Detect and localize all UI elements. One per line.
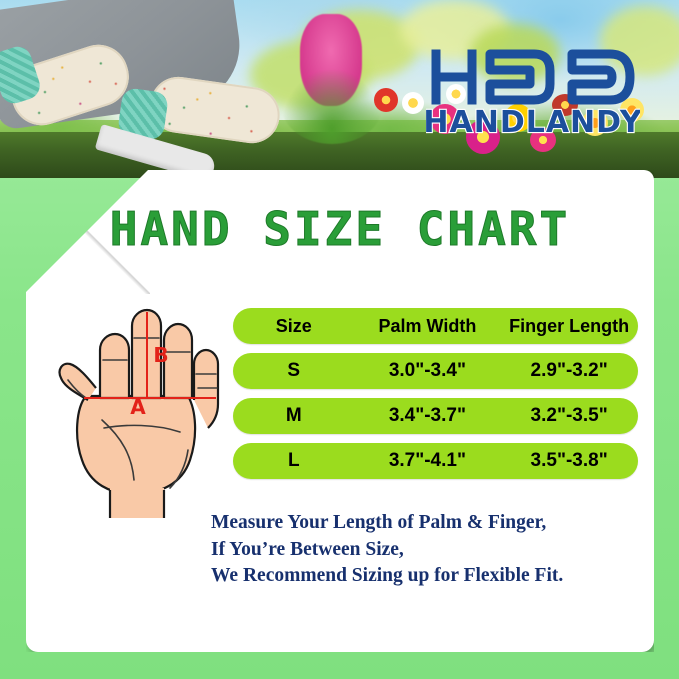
label-b: B bbox=[153, 343, 168, 367]
cell-finger-length: 2.9"-3.2" bbox=[500, 360, 638, 382]
hyacinth-leaves bbox=[282, 70, 382, 144]
cell-finger-length: 3.5"-3.8" bbox=[500, 450, 638, 472]
cell-size: L bbox=[233, 450, 355, 472]
header-size: Size bbox=[233, 316, 355, 337]
note-line-1: Measure Your Length of Palm & Finger, bbox=[211, 510, 641, 537]
table-header-row: Size Palm Width Finger Length bbox=[233, 308, 638, 344]
note-line-2: If You’re Between Size, bbox=[211, 537, 641, 564]
chart-card: HAND SIZE CHART bbox=[26, 170, 654, 652]
cell-palm-width: 3.4"-3.7" bbox=[355, 405, 501, 427]
table-row: L 3.7"-4.1" 3.5"-3.8" bbox=[233, 443, 638, 479]
cell-size: S bbox=[233, 360, 355, 382]
header-palm-width: Palm Width bbox=[355, 316, 501, 337]
hand-measurement-diagram: A B bbox=[48, 288, 228, 518]
table-row: S 3.0"-3.4" 2.9"-3.2" bbox=[233, 353, 638, 389]
label-a: A bbox=[130, 395, 146, 419]
size-table: Size Palm Width Finger Length S 3.0"-3.4… bbox=[233, 308, 638, 479]
cell-finger-length: 3.2"-3.5" bbox=[500, 405, 638, 427]
handlandy-logo: HANDLANDY bbox=[426, 44, 640, 136]
sizing-note: Measure Your Length of Palm & Finger, If… bbox=[211, 510, 641, 590]
cell-palm-width: 3.0"-3.4" bbox=[355, 360, 501, 382]
cell-size: M bbox=[233, 405, 355, 427]
daisy-flower bbox=[402, 92, 424, 114]
header-photo-gardening: HANDLANDY bbox=[0, 0, 679, 178]
logo-wordmark: HANDLANDY bbox=[426, 105, 640, 136]
header-finger-length: Finger Length bbox=[500, 316, 638, 337]
note-line-3: We Recommend Sizing up for Flexible Fit. bbox=[211, 563, 641, 590]
cell-palm-width: 3.7"-4.1" bbox=[355, 450, 501, 472]
red-flower bbox=[374, 88, 398, 112]
table-row: M 3.4"-3.7" 3.2"-3.5" bbox=[233, 398, 638, 434]
page-title: HAND SIZE CHART bbox=[26, 202, 654, 256]
hand-size-chart-page: HANDLANDY HAND SIZE CHART bbox=[0, 0, 679, 679]
